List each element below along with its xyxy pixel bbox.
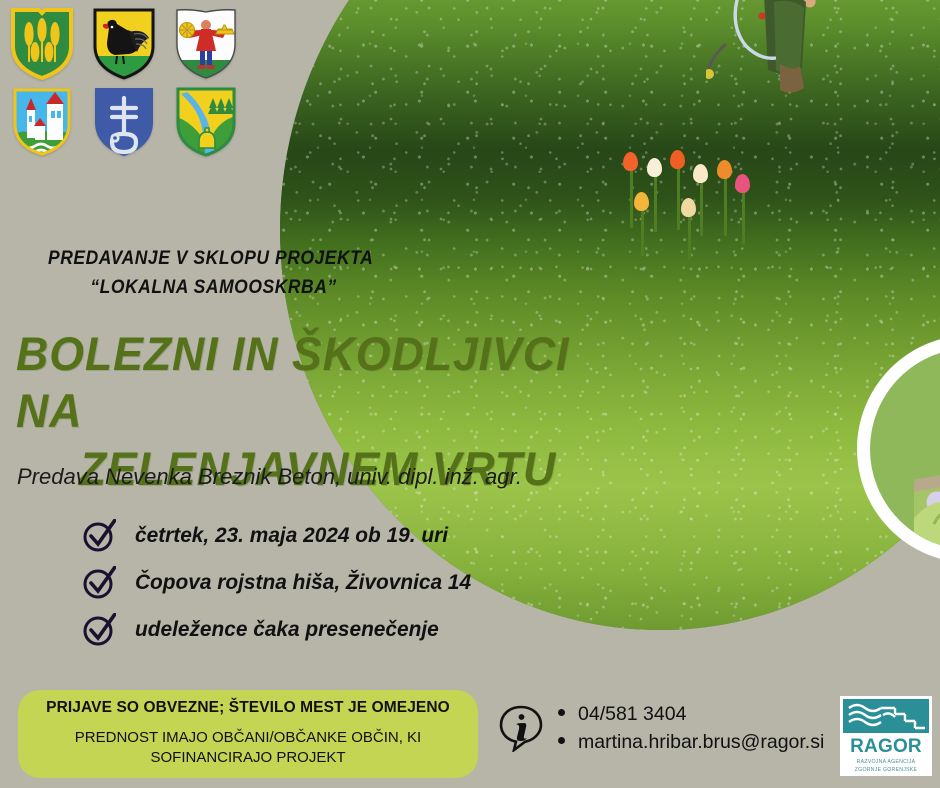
inset-photo-background bbox=[870, 348, 940, 550]
notice-body: PREDNOST IMAJO OBČANI/OBČANKE OBČIN, KI … bbox=[32, 728, 464, 767]
figure-with-wheel-crest bbox=[175, 8, 237, 80]
black-grouse-crest bbox=[93, 8, 155, 80]
list-item: četrtek, 23. maja 2024 ob 19. uri bbox=[82, 512, 552, 559]
check-circle-icon bbox=[82, 519, 116, 553]
church-and-tower-crest bbox=[11, 86, 73, 158]
gardener-figure bbox=[706, 0, 826, 128]
contact-email-value: martina.hribar.brus@ragor.si bbox=[578, 728, 824, 756]
list-item-label: Čopova rojstna hiša, Živovnica 14 bbox=[135, 570, 471, 595]
river-trees-bell-crest bbox=[175, 86, 237, 158]
woman-gardening-inset-photo bbox=[857, 335, 940, 563]
list-item-label: udeležence čaka presenečenje bbox=[135, 617, 439, 642]
wheat-sheaf-crest bbox=[11, 8, 73, 80]
contact-phone-value: 04/581 3404 bbox=[578, 700, 686, 728]
list-item: Čopova rojstna hiša, Živovnica 14 bbox=[82, 559, 552, 606]
registration-notice-box: PRIJAVE SO OBVEZNE; ŠTEVILO MEST JE OMEJ… bbox=[18, 690, 478, 778]
bullet-dot bbox=[558, 737, 565, 744]
key-device-crest bbox=[93, 86, 155, 158]
contact-block: 04/581 3404 martina.hribar.brus@ragor.si bbox=[498, 700, 824, 757]
project-kicker: PREDAVANJE V SKLOPU PROJEKTA “LOKALNA SA… bbox=[48, 244, 434, 303]
logo-wordmark: RAGOR bbox=[843, 737, 929, 756]
check-circle-icon bbox=[82, 613, 116, 647]
logo-subtitle-line-1: RAZVOJNA AGENCIJA bbox=[843, 759, 929, 767]
tulip-cluster bbox=[614, 150, 784, 300]
kicker-line-1: PREDAVANJE V SKLOPU PROJEKTA bbox=[48, 248, 373, 269]
bullet-dot bbox=[558, 709, 565, 716]
notice-headline: PRIJAVE SO OBVEZNE; ŠTEVILO MEST JE OMEJ… bbox=[46, 699, 450, 717]
logo-subtitle: RAZVOJNA AGENCIJA ZGORNJE GORENJSKE bbox=[843, 759, 929, 774]
list-item: udeležence čaka presenečenje bbox=[82, 606, 552, 653]
woman-gardening-figure bbox=[914, 368, 940, 558]
check-circle-icon bbox=[82, 566, 116, 600]
contact-phone[interactable]: 04/581 3404 bbox=[558, 700, 824, 728]
waves-and-steps-mark bbox=[843, 699, 929, 733]
municipal-crest-row bbox=[11, 8, 261, 166]
contact-list: 04/581 3404 martina.hribar.brus@ragor.si bbox=[558, 700, 824, 757]
list-item-label: četrtek, 23. maja 2024 ob 19. uri bbox=[135, 523, 448, 548]
event-details-list: četrtek, 23. maja 2024 ob 19. uri Čopova… bbox=[82, 512, 552, 653]
kicker-line-2: “LOKALNA SAMOOSKRBA” bbox=[48, 273, 434, 302]
logo-subtitle-line-2: ZGORNJE GORENJSKE bbox=[843, 767, 929, 775]
ragor-logo: RAGOR RAZVOJNA AGENCIJA ZGORNJE GORENJSK… bbox=[840, 696, 932, 776]
presenter-name: Predava Nevenka Breznik Beton, univ. dip… bbox=[17, 464, 577, 490]
contact-email[interactable]: martina.hribar.brus@ragor.si bbox=[558, 728, 824, 756]
info-bubble-icon bbox=[498, 704, 544, 752]
headline-line-1: BOLEZNI IN ŠKODLJIVCI NA bbox=[16, 327, 569, 437]
